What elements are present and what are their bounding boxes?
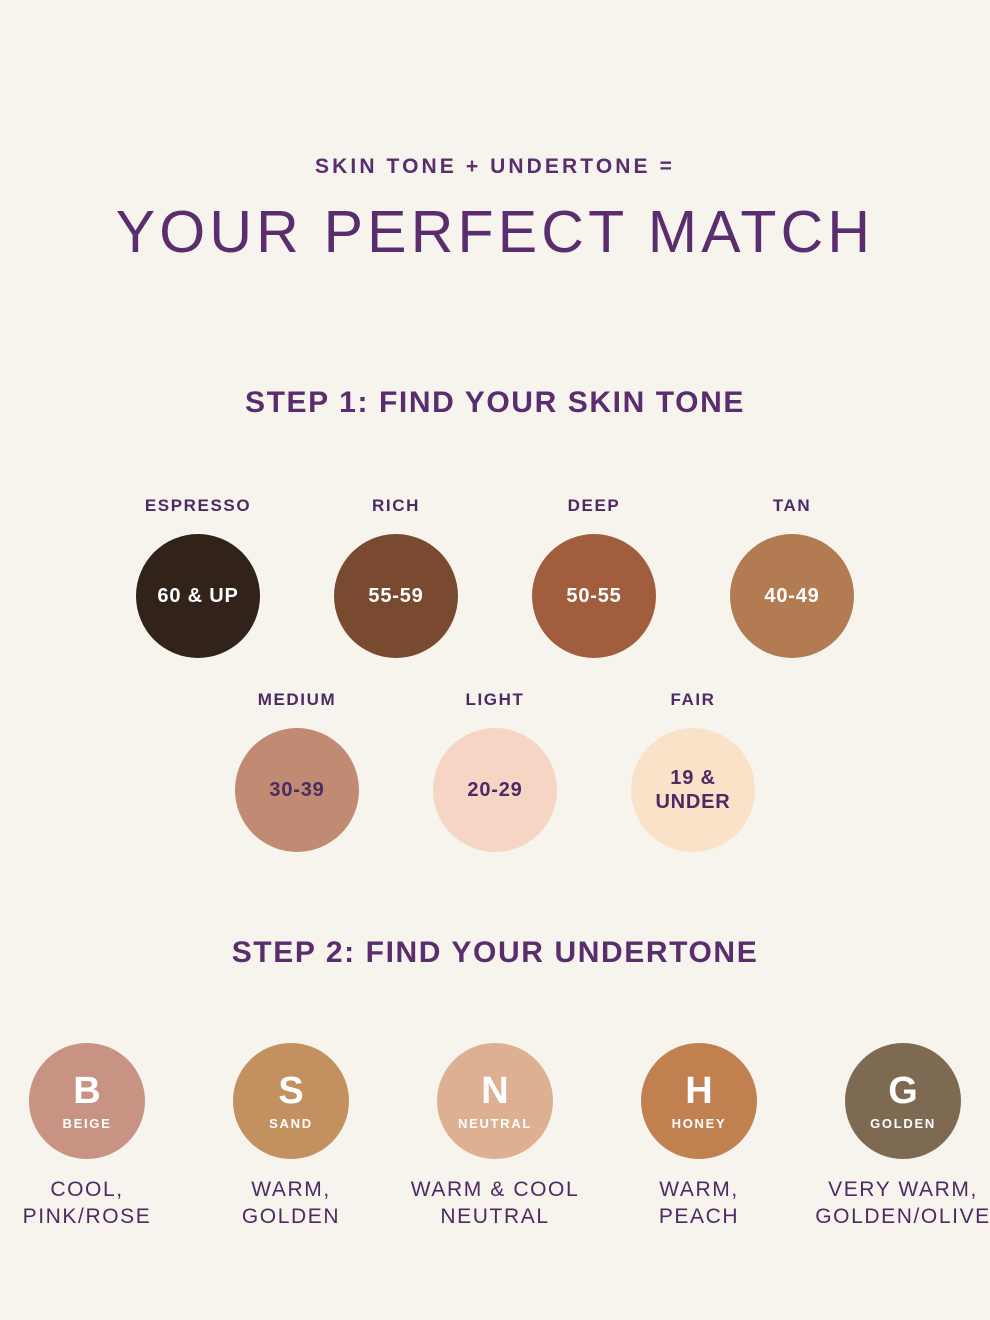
skin-tone-label: MEDIUM: [258, 690, 337, 710]
step-2-title: STEP 2: FIND YOUR UNDERTONE: [232, 936, 759, 970]
undertone-beige[interactable]: BBEIGECOOL, PINK/ROSE: [0, 1043, 177, 1230]
skin-tone-light[interactable]: LIGHT20-29: [415, 690, 575, 852]
undertone-letter: G: [888, 1072, 918, 1110]
skin-tone-row-1: ESPRESSO60 & UPRICH55-59DEEP50-55TAN40-4…: [118, 496, 872, 658]
undertone-neutral[interactable]: NNEUTRALWARM & COOL NEUTRAL: [405, 1043, 585, 1230]
eyebrow-text: SKIN TONE + UNDERTONE =: [315, 155, 675, 179]
skin-tone-range: 55-59: [368, 584, 423, 608]
skin-tone-fair[interactable]: FAIR19 & UNDER: [613, 690, 773, 852]
skin-tone-label: FAIR: [670, 690, 715, 710]
infographic-sheet: SKIN TONE + UNDERTONE = YOUR PERFECT MAT…: [0, 0, 990, 1320]
skin-tone-espresso[interactable]: ESPRESSO60 & UP: [118, 496, 278, 658]
skin-tone-range: 19 & UNDER: [655, 766, 730, 814]
skin-tone-swatch[interactable]: 55-59: [334, 534, 458, 658]
undertone-name: BEIGE: [63, 1117, 112, 1130]
undertone-letter: S: [278, 1072, 303, 1110]
undertone-name: GOLDEN: [870, 1117, 936, 1130]
skin-tone-label: RICH: [372, 496, 420, 516]
undertone-swatch[interactable]: BBEIGE: [29, 1043, 145, 1159]
skin-tone-range: 30-39: [269, 778, 324, 802]
undertone-letter: B: [73, 1072, 100, 1110]
skin-tone-swatch[interactable]: 50-55: [532, 534, 656, 658]
undertone-sand[interactable]: SSANDWARM, GOLDEN: [201, 1043, 381, 1230]
skin-tone-label: ESPRESSO: [145, 496, 251, 516]
undertone-description: VERY WARM, GOLDEN/OLIVE: [815, 1177, 990, 1230]
skin-tone-row-2: MEDIUM30-39LIGHT20-29FAIR19 & UNDER: [217, 690, 773, 852]
undertone-name: HONEY: [672, 1117, 727, 1130]
undertone-description: WARM, PEACH: [659, 1177, 739, 1230]
skin-tone-range: 40-49: [764, 584, 819, 608]
skin-tone-deep[interactable]: DEEP50-55: [514, 496, 674, 658]
skin-tone-swatch[interactable]: 20-29: [433, 728, 557, 852]
skin-tone-swatch[interactable]: 30-39: [235, 728, 359, 852]
undertone-swatch[interactable]: GGOLDEN: [845, 1043, 961, 1159]
undertone-description: WARM & COOL NEUTRAL: [411, 1177, 580, 1230]
skin-tone-range: 50-55: [566, 584, 621, 608]
skin-tone-label: TAN: [773, 496, 811, 516]
skin-tone-swatch[interactable]: 40-49: [730, 534, 854, 658]
undertone-letter: H: [685, 1072, 712, 1110]
undertone-row: BBEIGECOOL, PINK/ROSESSANDWARM, GOLDENNN…: [0, 1043, 990, 1230]
undertone-swatch[interactable]: NNEUTRAL: [437, 1043, 553, 1159]
skin-tone-medium[interactable]: MEDIUM30-39: [217, 690, 377, 852]
undertone-swatch[interactable]: SSAND: [233, 1043, 349, 1159]
skin-tone-range: 20-29: [467, 778, 522, 802]
skin-tone-tan[interactable]: TAN40-49: [712, 496, 872, 658]
step-1-title: STEP 1: FIND YOUR SKIN TONE: [245, 386, 745, 420]
undertone-honey[interactable]: HHONEYWARM, PEACH: [609, 1043, 789, 1230]
skin-tone-label: LIGHT: [466, 690, 525, 710]
skin-tone-range: 60 & UP: [157, 584, 238, 608]
skin-tone-rich[interactable]: RICH55-59: [316, 496, 476, 658]
undertone-description: COOL, PINK/ROSE: [23, 1177, 152, 1230]
undertone-description: WARM, GOLDEN: [242, 1177, 340, 1230]
page-title: YOUR PERFECT MATCH: [116, 203, 875, 262]
skin-tone-swatch[interactable]: 60 & UP: [136, 534, 260, 658]
undertone-letter: N: [481, 1072, 508, 1110]
undertone-name: SAND: [269, 1117, 313, 1130]
undertone-name: NEUTRAL: [458, 1117, 532, 1130]
skin-tone-label: DEEP: [568, 496, 621, 516]
undertone-golden[interactable]: GGOLDENVERY WARM, GOLDEN/OLIVE: [813, 1043, 990, 1230]
undertone-swatch[interactable]: HHONEY: [641, 1043, 757, 1159]
skin-tone-swatch[interactable]: 19 & UNDER: [631, 728, 755, 852]
